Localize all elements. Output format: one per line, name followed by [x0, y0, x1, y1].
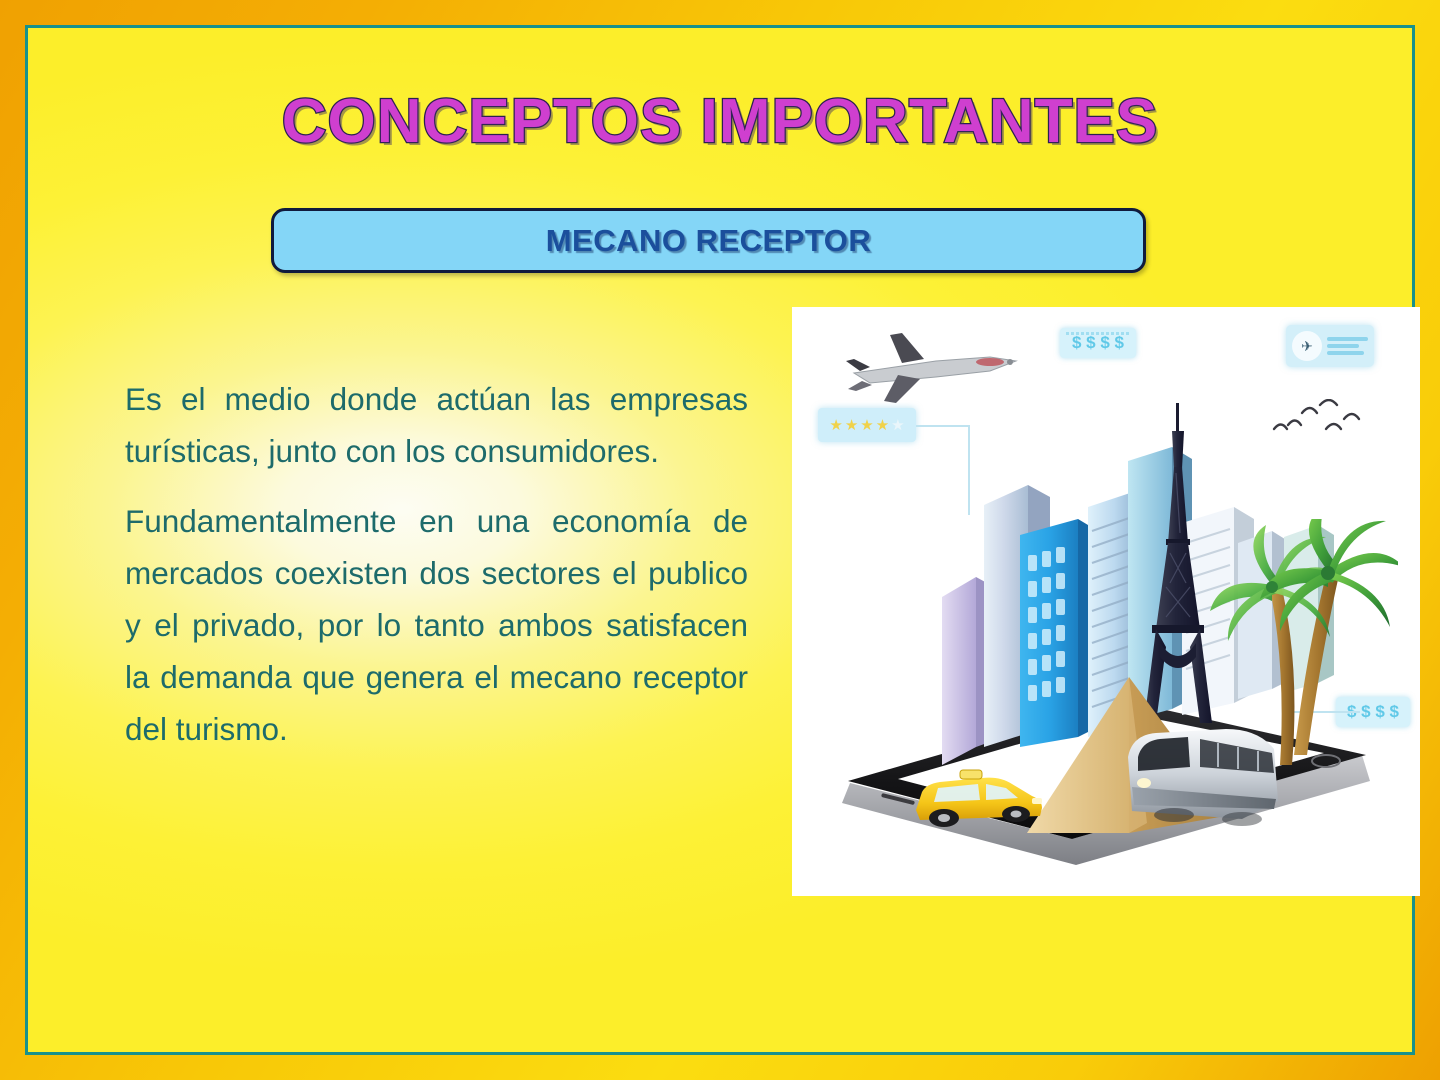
boarding-pass-card-icon: ✈ [1286, 325, 1374, 367]
star-icon-5-empty: ★ [891, 418, 904, 433]
star-rating-badge: ★ ★ ★ ★ ★ [818, 408, 916, 442]
body-paragraph-2: Fundamentalmente en una economía de merc… [125, 495, 748, 755]
taxi-icon [908, 762, 1048, 832]
price-tag-top-label: $ $ $ $ [1072, 333, 1124, 353]
slide-inner-panel: CONCEPTOS IMPORTANTES MECANO RECEPTOR Es… [25, 25, 1415, 1055]
page-title: CONCEPTOS IMPORTANTES [28, 86, 1412, 157]
subtitle-label: MECANO RECEPTOR [546, 223, 872, 259]
star-icon-2: ★ [845, 418, 858, 433]
subtitle-banner: MECANO RECEPTOR [271, 208, 1146, 273]
airplane-icon [840, 331, 1030, 409]
tourism-illustration: $ $ $ $ $ $ $ $ ★ ★ ★ ★ ★ ✈ [792, 307, 1420, 896]
connector-line-rating [916, 425, 970, 427]
body-copy: Es el medio donde actúan las empresas tu… [125, 373, 748, 755]
pass-avatar-plane-icon: ✈ [1292, 331, 1322, 361]
star-icon-4: ★ [876, 418, 889, 433]
tag-texture [1066, 332, 1130, 335]
price-tag-icon: $ $ $ $ [1060, 328, 1136, 358]
train-icon [1122, 727, 1282, 833]
slide-canvas: CONCEPTOS IMPORTANTES MECANO RECEPTOR Es… [0, 0, 1440, 1080]
star-icon-1: ★ [829, 418, 842, 433]
star-icon-3: ★ [860, 418, 873, 433]
pass-text-lines [1327, 337, 1368, 355]
body-paragraph-1: Es el medio donde actúan las empresas tu… [125, 373, 748, 477]
